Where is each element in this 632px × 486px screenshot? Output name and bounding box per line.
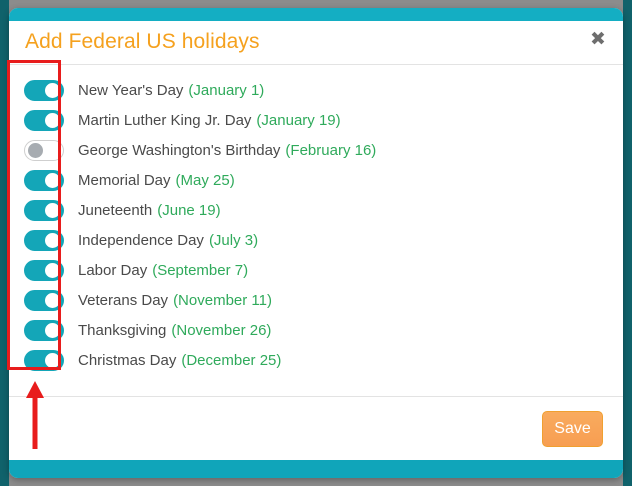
holiday-name: Independence Day(July 3) xyxy=(78,232,258,249)
dialog-top-accent-bar xyxy=(9,8,623,21)
holiday-toggle[interactable] xyxy=(24,80,64,101)
toggle-knob xyxy=(45,173,60,188)
save-button[interactable]: Save xyxy=(542,411,603,447)
toggle-knob xyxy=(45,293,60,308)
holiday-row: Juneteenth(June 19) xyxy=(9,195,623,225)
holiday-date: (September 7) xyxy=(152,262,248,279)
holiday-date: (June 19) xyxy=(157,202,220,219)
close-icon[interactable]: ✖ xyxy=(585,27,611,53)
holiday-date: (July 3) xyxy=(209,232,258,249)
holiday-row: Veterans Day(November 11) xyxy=(9,285,623,315)
holiday-row: Martin Luther King Jr. Day(January 19) xyxy=(9,105,623,135)
holiday-row: Labor Day(September 7) xyxy=(9,255,623,285)
holiday-row: Memorial Day(May 25) xyxy=(9,165,623,195)
holiday-row: New Year's Day(January 1) xyxy=(9,75,623,105)
holiday-name: Juneteenth(June 19) xyxy=(78,202,221,219)
holiday-date: (February 16) xyxy=(285,142,376,159)
holiday-toggle[interactable] xyxy=(24,320,64,341)
dialog-body: New Year's Day(January 1)Martin Luther K… xyxy=(9,65,623,410)
holiday-name: Labor Day(September 7) xyxy=(78,262,248,279)
toggle-knob xyxy=(45,353,60,368)
holiday-name: Memorial Day(May 25) xyxy=(78,172,235,189)
holiday-date: (November 26) xyxy=(171,322,271,339)
holiday-toggle[interactable] xyxy=(24,230,64,251)
holiday-row: Thanksgiving(November 26) xyxy=(9,315,623,345)
app-edge-strip-right xyxy=(623,0,632,486)
holiday-toggle[interactable] xyxy=(24,350,64,371)
holiday-date: (November 11) xyxy=(173,292,272,309)
holiday-row: George Washington's Birthday(February 16… xyxy=(9,135,623,165)
holiday-name: Thanksgiving(November 26) xyxy=(78,322,271,339)
holiday-row: Christmas Day(December 25) xyxy=(9,345,623,375)
holiday-name: George Washington's Birthday(February 16… xyxy=(78,142,376,159)
holiday-date: (January 1) xyxy=(188,82,264,99)
holiday-name: New Year's Day(January 1) xyxy=(78,82,264,99)
holiday-date: (May 25) xyxy=(176,172,235,189)
toggle-knob xyxy=(45,83,60,98)
holiday-name: Christmas Day(December 25) xyxy=(78,352,281,369)
add-federal-holidays-dialog: Add Federal US holidays ✖ New Year's Day… xyxy=(9,8,623,478)
toggle-knob xyxy=(45,203,60,218)
toggle-knob xyxy=(28,143,43,158)
holiday-toggle[interactable] xyxy=(24,260,64,281)
toggle-knob xyxy=(45,323,60,338)
holiday-date: (January 19) xyxy=(256,112,340,129)
holiday-toggle[interactable] xyxy=(24,170,64,191)
holiday-toggle[interactable] xyxy=(24,200,64,221)
holiday-toggle[interactable] xyxy=(24,140,64,161)
holiday-toggle[interactable] xyxy=(24,290,64,311)
toggle-knob xyxy=(45,263,60,278)
holiday-list: New Year's Day(January 1)Martin Luther K… xyxy=(9,75,623,375)
holiday-name: Veterans Day(November 11) xyxy=(78,292,272,309)
dialog-footer: Save xyxy=(9,396,623,460)
holiday-row: Independence Day(July 3) xyxy=(9,225,623,255)
page-backdrop: Add Federal US holidays ✖ New Year's Day… xyxy=(0,0,632,486)
holiday-date: (December 25) xyxy=(181,352,281,369)
dialog-header: Add Federal US holidays ✖ xyxy=(9,21,623,65)
app-edge-strip-left xyxy=(0,0,9,486)
toggle-knob xyxy=(45,113,60,128)
dialog-title: Add Federal US holidays xyxy=(25,30,260,54)
dialog-bottom-accent-bar xyxy=(9,460,623,478)
holiday-toggle[interactable] xyxy=(24,110,64,131)
toggle-knob xyxy=(45,233,60,248)
holiday-name: Martin Luther King Jr. Day(January 19) xyxy=(78,112,341,129)
